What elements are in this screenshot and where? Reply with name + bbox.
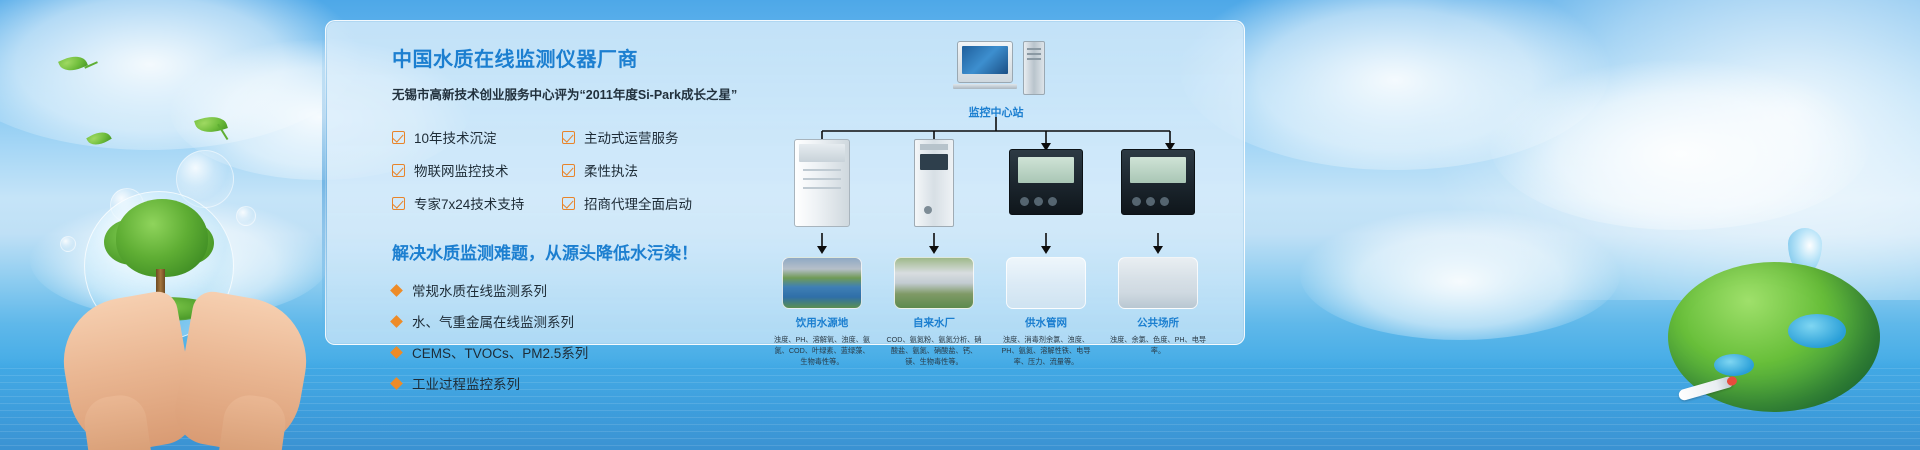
cloud-decoration (1490, 60, 1870, 230)
feature-label: 物联网监控技术 (414, 160, 509, 180)
scene-cell[interactable]: 饮用水源地 浊度、PH、溶解氧、浊度、氨氮、COD、叶绿素、蓝绿藻、生物毒性等。 (770, 257, 874, 367)
scene-label: 饮用水源地 (770, 315, 874, 330)
device-row (766, 139, 1226, 249)
scene-thumbnail-public-place (1118, 257, 1198, 309)
scene-description: 浊度、消毒剂余氯、浊度、PH、氨氮、溶解性铁、电导率、压力、流量等。 (994, 334, 1098, 367)
feature-item[interactable]: 专家7x24技术支持 (392, 193, 562, 213)
pc-screen (962, 46, 1008, 74)
device-cell (886, 139, 982, 227)
list-item-label: 工业过程监控系列 (412, 373, 520, 393)
panel-left-column: 中国水质在线监测仪器厂商 无锡市高新技术创业服务中心评为“2011年度Si-Pa… (392, 43, 742, 404)
panel-transmitter-icon (1121, 149, 1195, 215)
diamond-bullet-icon (390, 284, 403, 297)
checkbox-checked-icon (562, 164, 575, 177)
system-topology-diagram: 监控中心站 (766, 35, 1226, 340)
checkbox-checked-icon (392, 197, 405, 210)
feature-label: 专家7x24技术支持 (414, 193, 524, 213)
device-cell (1110, 139, 1206, 215)
diamond-bullet-icon (390, 346, 403, 359)
list-item-label: 水、气重金属在线监测系列 (412, 311, 574, 331)
monitoring-center-node: 监控中心站 (941, 39, 1051, 120)
product-series-list: 常规水质在线监测系列 水、气重金属在线监测系列 CEMS、TVOCs、PM2.5… (392, 280, 742, 393)
green-earth-illustration (1668, 236, 1880, 412)
device-cell (774, 139, 870, 227)
list-item[interactable]: 水、气重金属在线监测系列 (392, 311, 742, 331)
rack-analyzer-icon (914, 139, 954, 227)
device-cell (998, 139, 1094, 215)
diamond-bullet-icon (390, 315, 403, 328)
panel-controller-icon (1009, 149, 1083, 215)
feature-checklist: 10年技术沉淀 主动式运营服务 物联网监控技术 柔性执法 专家7x24技术支持 … (392, 127, 742, 213)
list-item-label: 常规水质在线监测系列 (412, 280, 547, 300)
scene-description: 浊度、PH、溶解氧、浊度、氨氮、COD、叶绿素、蓝绿藻、生物毒性等。 (770, 334, 874, 367)
checkbox-checked-icon (392, 131, 405, 144)
leaf-stem (84, 61, 97, 68)
earth-lake (1788, 314, 1846, 348)
feature-item[interactable]: 10年技术沉淀 (392, 127, 562, 147)
scene-thumbnail-river (782, 257, 862, 309)
scene-label: 自来水厂 (882, 315, 986, 330)
diamond-bullet-icon (390, 377, 403, 390)
pc-monitor-icon (957, 41, 1013, 83)
cloud-decoration (1300, 210, 1620, 340)
list-item[interactable]: 工业过程监控系列 (392, 373, 742, 393)
pc-keyboard (953, 84, 1017, 89)
list-item-label: CEMS、TVOCs、PM2.5系列 (412, 342, 588, 362)
pc-tower-icon (1023, 41, 1045, 95)
page-title: 中国水质在线监测仪器厂商 (392, 43, 742, 72)
section-heading: 解决水质监测难题，从源头降低水污染！ (392, 239, 742, 264)
feature-label: 主动式运营服务 (584, 127, 679, 147)
scene-label: 供水管网 (994, 315, 1098, 330)
content-panel: 中国水质在线监测仪器厂商 无锡市高新技术创业服务中心评为“2011年度Si-Pa… (325, 20, 1245, 345)
leaf-stem (218, 124, 229, 140)
page-subtitle: 无锡市高新技术创业服务中心评为“2011年度Si-Park成长之星” (392, 84, 742, 103)
feature-item[interactable]: 主动式运营服务 (562, 127, 742, 147)
center-node-label: 监控中心站 (941, 104, 1051, 120)
feature-label: 招商代理全面启动 (584, 193, 692, 213)
scene-cell[interactable]: 供水管网 浊度、消毒剂余氯、浊度、PH、氨氮、溶解性铁、电导率、压力、流量等。 (994, 257, 1098, 367)
scene-description: COD、氨氮粉、氨氮分析、硝酸盐、氨氮、硝酸盐、钙、镁、生物毒性等。 (882, 334, 986, 367)
feature-label: 10年技术沉淀 (414, 127, 497, 147)
list-item[interactable]: 常规水质在线监测系列 (392, 280, 742, 300)
leaf-decoration (194, 112, 228, 137)
leaf-decoration (58, 51, 88, 75)
scene-description: 浊度、余氯、色度、PH、电导率。 (1106, 334, 1210, 356)
scene-label: 公共场所 (1106, 315, 1210, 330)
hands-holding-tree-illustration (60, 185, 310, 450)
feature-item[interactable]: 柔性执法 (562, 160, 742, 180)
checkbox-checked-icon (562, 197, 575, 210)
earth-lake (1714, 354, 1754, 376)
checkbox-checked-icon (392, 164, 405, 177)
list-item[interactable]: CEMS、TVOCs、PM2.5系列 (392, 342, 742, 362)
scene-cell[interactable]: 公共场所 浊度、余氯、色度、PH、电导率。 (1106, 257, 1210, 356)
tree-canopy (116, 199, 208, 277)
checkbox-checked-icon (562, 131, 575, 144)
scene-thumbnail-waterworks (894, 257, 974, 309)
feature-item[interactable]: 物联网监控技术 (392, 160, 562, 180)
scene-cell[interactable]: 自来水厂 COD、氨氮粉、氨氮分析、硝酸盐、氨氮、硝酸盐、钙、镁、生物毒性等。 (882, 257, 986, 367)
scene-thumbnail-pipe-network (1006, 257, 1086, 309)
cloud-decoration (0, 0, 360, 150)
leaf-decoration (86, 127, 112, 149)
feature-item[interactable]: 招商代理全面启动 (562, 193, 742, 213)
feature-label: 柔性执法 (584, 160, 638, 180)
water-cabinet-analyzer-icon (794, 139, 850, 227)
